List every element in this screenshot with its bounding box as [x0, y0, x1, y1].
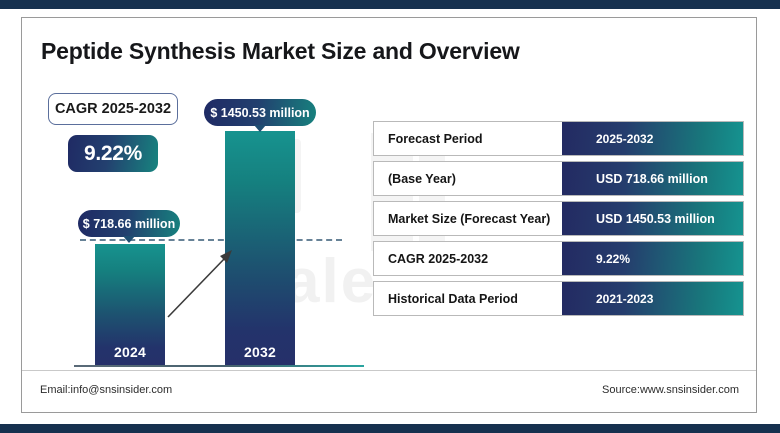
table-row: CAGR 2025-2032 9.22% — [373, 241, 744, 276]
spec-label: Forecast Period — [374, 122, 562, 155]
spec-value: 2021-2023 — [562, 282, 743, 315]
spec-value: USD 718.66 million — [562, 162, 743, 195]
top-accent-bar — [0, 0, 780, 9]
reference-dashed-line — [80, 239, 342, 241]
footer-email: Email:info@snsinsider.com — [40, 384, 172, 396]
spec-label: Historical Data Period — [374, 282, 562, 315]
spec-label: (Base Year) — [374, 162, 562, 195]
spec-label: Market Size (Forecast Year) — [374, 202, 562, 235]
footer-divider — [22, 370, 757, 371]
spec-value: 9.22% — [562, 242, 743, 275]
bar-2032 — [225, 131, 295, 366]
infographic-card: ale Peptide Synthesis Market Size and Ov… — [21, 17, 757, 413]
table-row: Forecast Period 2025-2032 — [373, 121, 744, 156]
value-tooltip-2032: $ 1450.53 million — [204, 99, 316, 126]
infographic-page: ale Peptide Synthesis Market Size and Ov… — [0, 0, 780, 433]
bar-label-2024: 2024 — [95, 344, 165, 360]
footer-source: Source:www.snsinsider.com — [602, 384, 739, 396]
bottom-accent-bar — [0, 424, 780, 433]
table-row: (Base Year) USD 718.66 million — [373, 161, 744, 196]
spec-value: 2025-2032 — [562, 122, 743, 155]
table-row: Historical Data Period 2021-2023 — [373, 281, 744, 316]
spec-label: CAGR 2025-2032 — [374, 242, 562, 275]
chart-baseline-axis — [74, 365, 364, 367]
spec-table: Forecast Period 2025-2032 (Base Year) US… — [373, 121, 744, 321]
table-row: Market Size (Forecast Year) USD 1450.53 … — [373, 201, 744, 236]
bar-chart: 2024 2032 $ 718.66 million $ 1450.53 mil… — [22, 18, 382, 413]
value-tooltip-2024: $ 718.66 million — [78, 210, 180, 237]
bar-label-2032: 2032 — [225, 344, 295, 360]
spec-value: USD 1450.53 million — [562, 202, 743, 235]
